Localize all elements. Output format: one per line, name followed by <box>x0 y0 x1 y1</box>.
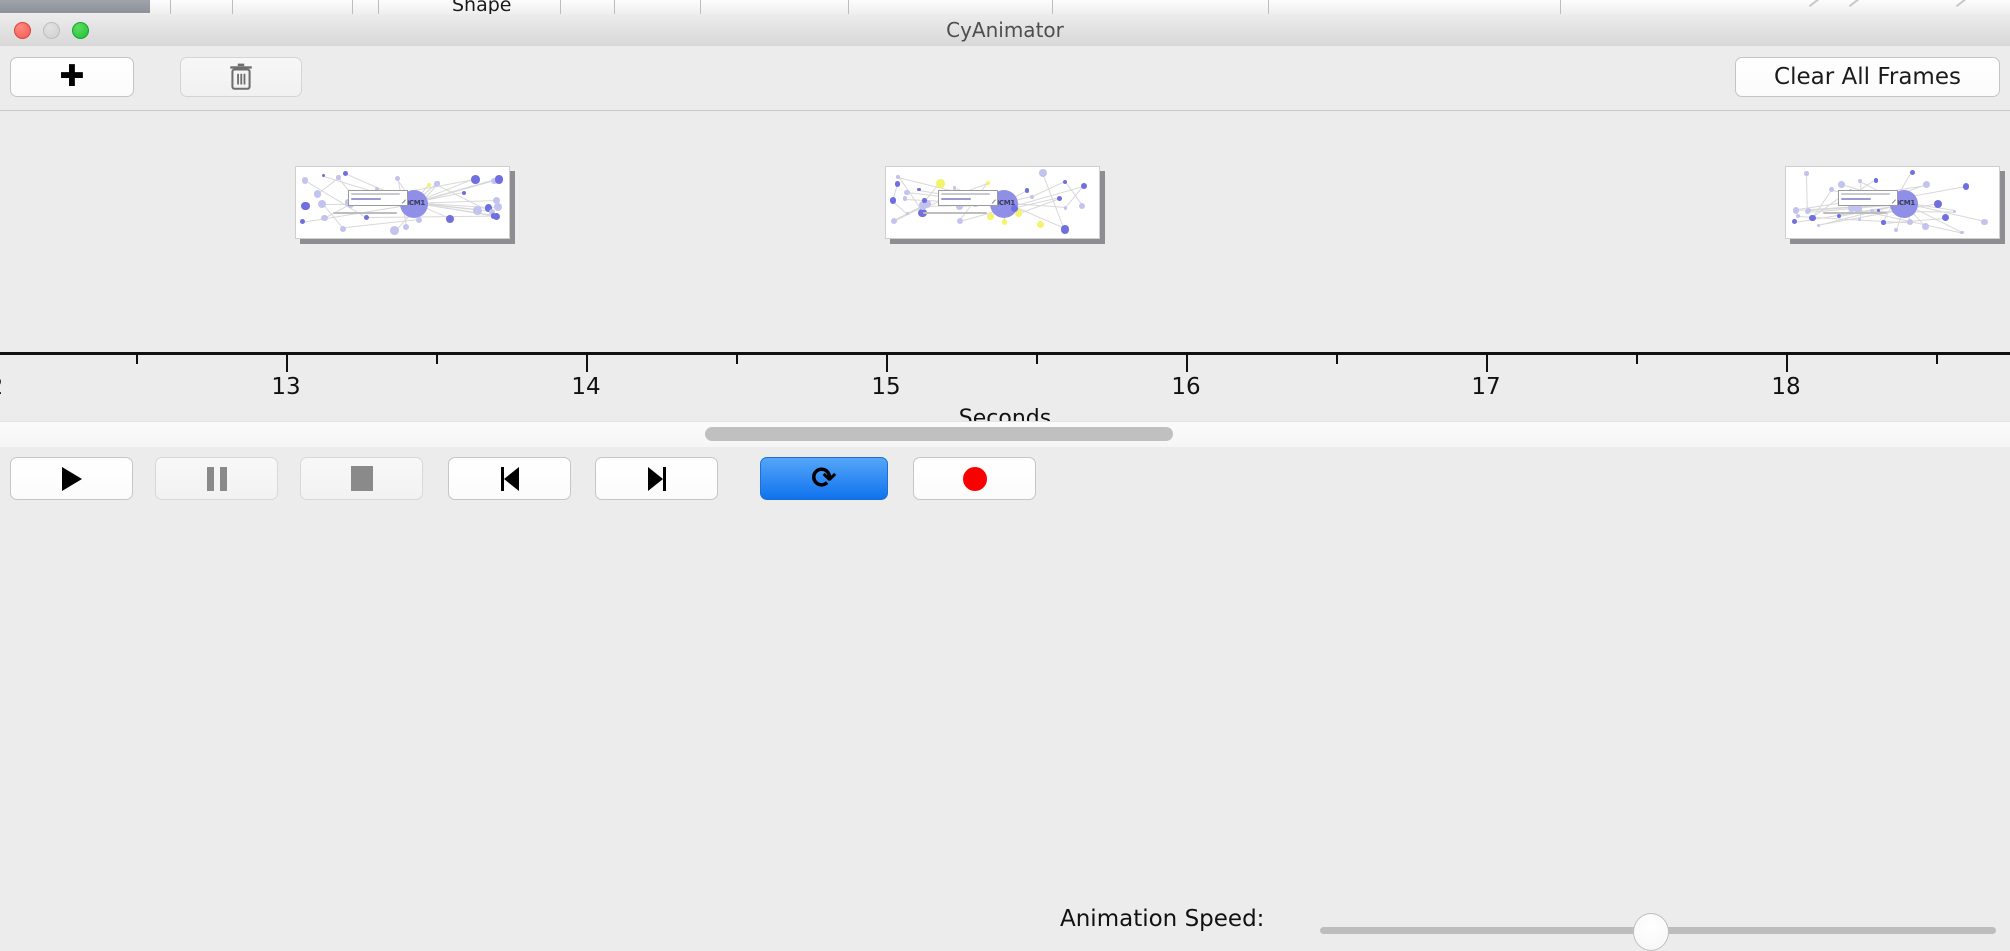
graph-node <box>957 218 963 224</box>
background-window-strip: Shape <box>0 0 2010 14</box>
axis-tick-label: 17 <box>1471 374 1500 400</box>
axis-tick-minor <box>436 355 438 364</box>
graph-node <box>922 198 927 203</box>
graph-node <box>416 217 422 223</box>
bg-diagonal <box>1849 0 1861 7</box>
skip-back-icon <box>501 467 519 491</box>
trash-icon <box>228 62 254 92</box>
graph-node <box>1934 200 1942 208</box>
network-graph-thumbnail: MCM1 <box>295 166 510 239</box>
graph-node <box>1081 183 1087 189</box>
graph-node <box>1805 209 1810 214</box>
graph-node <box>917 188 920 191</box>
graph-node <box>1922 223 1929 230</box>
toolbar: ✚ Clear All Frames <box>0 46 2010 111</box>
graph-node <box>1796 214 1800 218</box>
graph-node <box>462 191 466 195</box>
graph-node <box>890 197 896 203</box>
graph-node <box>446 215 454 223</box>
bg-divider <box>614 0 615 14</box>
stop-button[interactable] <box>300 457 423 500</box>
axis-tick-minor <box>1936 355 1938 364</box>
bg-divider <box>352 0 353 14</box>
clear-all-frames-button[interactable]: Clear All Frames <box>1735 57 2000 97</box>
graph-node <box>1792 219 1797 224</box>
graph-node <box>1804 171 1808 175</box>
delete-frame-button[interactable] <box>180 57 302 97</box>
axis-tick-major <box>286 355 288 372</box>
axis-title: Seconds <box>0 406 2010 421</box>
graph-node <box>903 196 908 201</box>
bg-divider <box>1560 0 1561 14</box>
graph-node <box>1025 188 1029 192</box>
graph-node <box>491 213 496 218</box>
graph-node <box>1817 224 1820 227</box>
graph-edge <box>1806 174 1808 212</box>
graph-node <box>301 202 309 210</box>
axis-tick-minor <box>1036 355 1038 364</box>
axis-tick-minor <box>1636 355 1638 364</box>
graph-node <box>904 190 909 195</box>
skip-to-start-button[interactable] <box>448 457 571 500</box>
loop-button[interactable]: ⟳ <box>760 457 888 500</box>
clear-all-frames-label: Clear All Frames <box>1774 64 1961 90</box>
graph-node <box>1838 181 1845 188</box>
bg-divider <box>1052 0 1053 14</box>
graph-node <box>1963 183 1969 189</box>
bg-diagonal <box>1809 0 1821 7</box>
axis-tick-major <box>1786 355 1788 372</box>
animation-speed-slider-knob[interactable] <box>1633 913 1669 951</box>
graph-node <box>1894 228 1898 232</box>
network-graph-thumbnail: MCM1 <box>1785 166 2000 239</box>
graph-node <box>1837 214 1841 218</box>
loop-icon: ⟳ <box>811 464 836 494</box>
skip-to-end-button[interactable] <box>595 457 718 500</box>
graph-node <box>300 219 305 224</box>
graph-node <box>314 190 321 197</box>
graph-node <box>395 176 400 181</box>
graph-node <box>1960 231 1964 235</box>
graph-node <box>390 226 399 235</box>
graph-node <box>1057 196 1062 201</box>
graph-node <box>427 183 431 187</box>
graph-caption-text <box>333 212 398 214</box>
bg-divider <box>700 0 701 14</box>
graph-caption-text <box>923 212 988 214</box>
axis-tick-label: 16 <box>1171 374 1200 400</box>
stop-icon <box>351 466 373 491</box>
axis-tick-minor <box>736 355 738 364</box>
title-bar: CyAnimator <box>0 14 2010 47</box>
keyframe-thumbnail[interactable]: MCM1 <box>885 166 1100 239</box>
graph-node <box>495 175 504 184</box>
keyframe-thumbnail[interactable]: MCM1 <box>295 166 510 239</box>
graph-node <box>473 206 482 215</box>
timeline-axis <box>0 352 2010 355</box>
tooltip-text-line <box>1841 193 1890 195</box>
graph-node <box>1064 206 1068 210</box>
graph-node <box>1002 219 1007 224</box>
playback-controls: ⟳ Animation Speed: <box>0 447 2010 510</box>
graph-node <box>1793 207 1800 214</box>
graph-node <box>1829 187 1834 192</box>
plus-icon: ✚ <box>59 62 84 92</box>
graph-node <box>471 175 480 184</box>
animation-speed-label: Animation Speed: <box>1060 906 1264 932</box>
axis-tick-major <box>1186 355 1188 372</box>
bg-divider <box>378 0 379 14</box>
cyanimator-window: Shape CyAnimator ✚ Clear All Frames <box>0 0 2010 510</box>
graph-node <box>896 175 899 178</box>
timeline-scrollbar[interactable] <box>0 421 2010 448</box>
axis-tick-major <box>586 355 588 372</box>
graph-node <box>1079 203 1086 210</box>
graph-node <box>1030 195 1034 199</box>
graph-node <box>987 213 994 220</box>
play-button[interactable] <box>10 457 133 500</box>
graph-node <box>986 181 990 185</box>
keyframe-thumbnail[interactable]: MCM1 <box>1785 166 2000 239</box>
timeline-panel[interactable]: MCM1 MCM1 MCM1 2131415161718 Seconds <box>0 111 2010 421</box>
axis-tick-minor <box>1336 355 1338 364</box>
graph-node <box>321 215 327 221</box>
graph-node <box>403 224 409 230</box>
axis-tick-label: 18 <box>1771 374 1800 400</box>
graph-node <box>1923 181 1930 188</box>
window-title: CyAnimator <box>0 14 2010 46</box>
bg-divider <box>848 0 849 14</box>
graph-node <box>494 203 502 211</box>
scrollbar-thumb[interactable] <box>705 427 1173 441</box>
axis-tick-label: 15 <box>871 374 900 400</box>
axis-tick-label: 13 <box>271 374 300 400</box>
add-frame-button[interactable]: ✚ <box>10 57 134 97</box>
skip-forward-icon <box>648 467 666 491</box>
graph-node <box>1981 219 1988 226</box>
graph-caption-text <box>1823 212 1888 214</box>
graph-node <box>340 226 346 232</box>
graph-node <box>302 177 308 183</box>
graph-node <box>1061 225 1069 233</box>
network-graph-thumbnail: MCM1 <box>885 166 1100 239</box>
graph-node <box>1874 178 1878 182</box>
background-window-label: Shape <box>452 0 512 14</box>
graph-node <box>336 175 340 179</box>
graph-node <box>936 179 945 188</box>
axis-tick-minor <box>136 355 138 364</box>
graph-node <box>1809 215 1815 221</box>
bg-divider <box>560 0 561 14</box>
graph-node <box>1910 170 1915 175</box>
axis-tick-major <box>1486 355 1488 372</box>
bg-divider <box>232 0 233 14</box>
play-icon <box>62 467 82 491</box>
pause-icon <box>207 467 227 491</box>
bg-diagonal <box>1956 0 1968 7</box>
graph-node <box>1953 210 1956 213</box>
background-window-titlebar <box>0 0 150 13</box>
graph-node <box>434 181 440 187</box>
tooltip-text-line <box>351 193 400 195</box>
record-button[interactable] <box>913 457 1036 500</box>
graph-node <box>1907 219 1913 225</box>
tooltip-text-line <box>941 193 990 195</box>
graph-node <box>1881 220 1886 225</box>
axis-tick-label: 14 <box>571 374 600 400</box>
graph-edge <box>366 216 493 218</box>
graph-node <box>1039 169 1047 177</box>
bg-divider <box>170 0 171 14</box>
bg-divider <box>1268 0 1269 14</box>
graph-node <box>895 181 900 186</box>
graph-node <box>1942 214 1949 221</box>
graph-node <box>364 215 369 220</box>
pause-button[interactable] <box>155 457 278 500</box>
graph-node <box>891 218 897 224</box>
graph-node <box>1037 221 1044 228</box>
axis-tick-major <box>886 355 888 372</box>
axis-tick-label: 2 <box>0 374 3 400</box>
record-icon <box>963 467 987 491</box>
